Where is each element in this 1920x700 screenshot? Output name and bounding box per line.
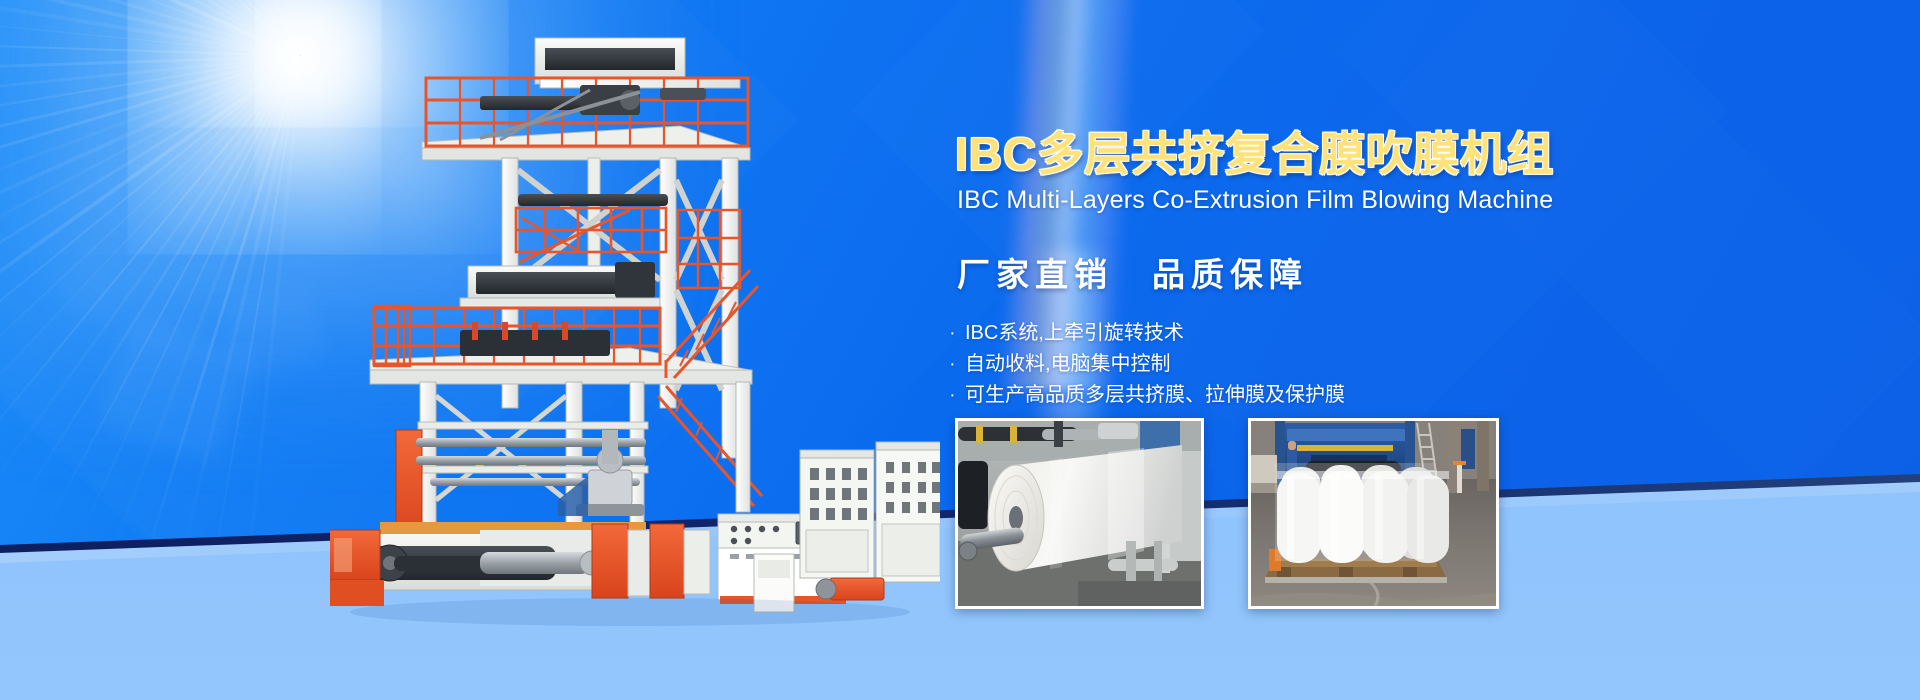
feature-item: ·自动收料,电脑集中控制	[949, 349, 1715, 380]
feature-item: ·IBC系统,上牵引旋转技术	[949, 318, 1715, 349]
hero-title-english: IBC Multi-Layers Co-Extrusion Film Blowi…	[957, 186, 1715, 215]
hero-tagline: 厂家直销 品质保障	[957, 248, 1715, 296]
hero-feature-list: ·IBC系统,上牵引旋转技术·自动收料,电脑集中控制·可生产高品质多层共挤膜、拉…	[949, 318, 1715, 411]
film-roll-photo[interactable]	[955, 418, 1204, 609]
bullet-dot-icon: ·	[949, 318, 965, 349]
bullet-dot-icon: ·	[949, 380, 965, 411]
sun-glow-icon	[300, 55, 301, 56]
hero-title-chinese: IBC多层共挤复合膜吹膜机组	[955, 130, 1715, 178]
hero-text-block: IBC多层共挤复合膜吹膜机组 IBC Multi-Layers Co-Extru…	[955, 130, 1715, 411]
feature-item-label: 自动收料,电脑集中控制	[965, 349, 1171, 380]
feature-item: ·可生产高品质多层共挤膜、拉伸膜及保护膜	[949, 380, 1715, 411]
feature-item-label: 可生产高品质多层共挤膜、拉伸膜及保护膜	[965, 380, 1345, 411]
feature-item-label: IBC系统,上牵引旋转技术	[965, 318, 1184, 349]
pallet-rolls-photo[interactable]	[1248, 418, 1499, 609]
film-blowing-machine-image	[330, 30, 940, 680]
promo-banner: IBC多层共挤复合膜吹膜机组 IBC Multi-Layers Co-Extru…	[0, 0, 1920, 700]
bullet-dot-icon: ·	[949, 349, 965, 380]
